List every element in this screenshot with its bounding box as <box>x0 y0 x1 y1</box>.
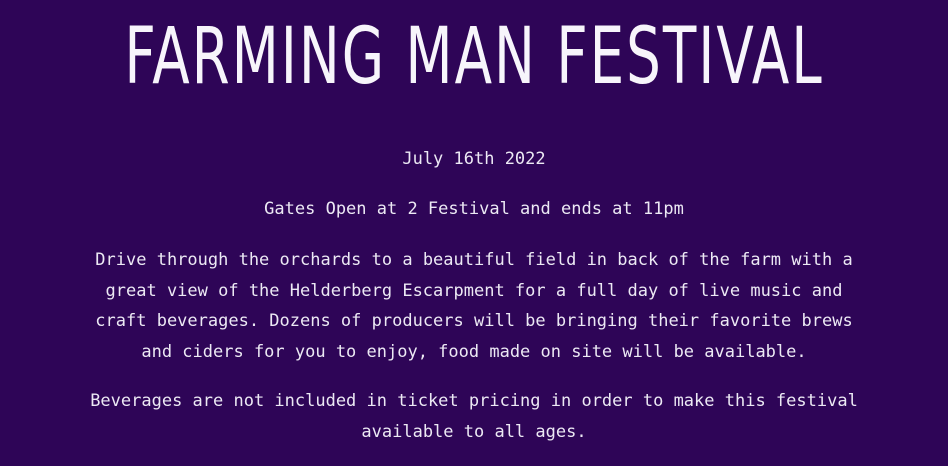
festival-poster: FARMING MAN FESTIVAL July 16th 2022 Gate… <box>0 0 948 466</box>
description-line: craft beverages. Dozens of producers wil… <box>46 306 902 337</box>
notice-line: available to all ages. <box>46 417 902 448</box>
festival-notice: Beverages are not included in ticket pri… <box>46 386 902 447</box>
notice-line: Beverages are not included in ticket pri… <box>46 386 902 417</box>
page-title: FARMING MAN FESTIVAL <box>104 18 843 96</box>
description-line: great view of the Helderberg Escarpment … <box>46 276 902 307</box>
festival-hours: Gates Open at 2 Festival and ends at 11p… <box>0 201 948 218</box>
description-line: and ciders for you to enjoy, food made o… <box>46 337 902 368</box>
festival-description: Drive through the orchards to a beautifu… <box>46 245 902 367</box>
description-line: Drive through the orchards to a beautifu… <box>46 245 902 276</box>
festival-date: July 16th 2022 <box>0 151 948 168</box>
